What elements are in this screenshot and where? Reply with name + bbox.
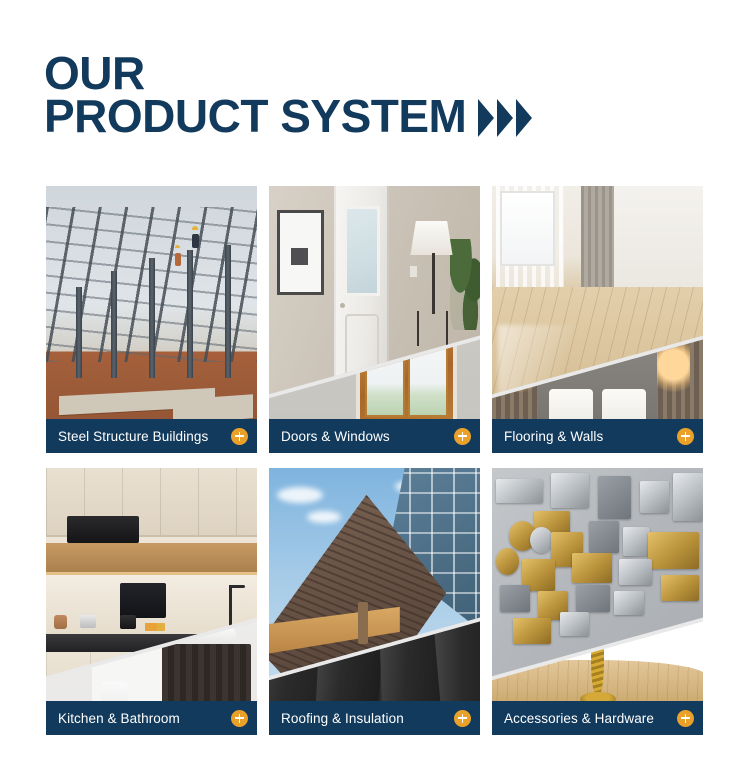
heading-line-two-row: PRODUCT SYSTEM <box>44 95 704 138</box>
heading-line-one: OUR <box>44 52 704 95</box>
card-image-roofing-insulation <box>269 468 480 735</box>
product-card-steel-structure-buildings[interactable]: Steel Structure Buildings <box>46 186 257 453</box>
chevron-right-icon-2 <box>497 99 513 137</box>
product-card-doors-and-windows[interactable]: Doors & Windows <box>269 186 480 453</box>
card-label-text: Steel Structure Buildings <box>58 429 231 444</box>
plus-icon[interactable] <box>454 428 471 445</box>
product-card-accessories-and-hardware[interactable]: Accessories & Hardware <box>492 468 703 735</box>
card-label-text: Kitchen & Bathroom <box>58 711 231 726</box>
page-title: OUR PRODUCT SYSTEM <box>44 52 704 138</box>
card-image-doors-windows <box>269 186 480 453</box>
card-label-text: Doors & Windows <box>281 429 454 444</box>
chevron-right-icon-1 <box>478 99 494 137</box>
card-label-bar[interactable]: Roofing & Insulation <box>269 701 480 735</box>
product-card-kitchen-and-bathroom[interactable]: Kitchen & Bathroom <box>46 468 257 735</box>
chevron-right-triple-icon <box>478 99 532 137</box>
plus-icon[interactable] <box>231 710 248 727</box>
heading-line-two: PRODUCT SYSTEM <box>44 95 466 138</box>
card-image-flooring-walls <box>492 186 703 453</box>
product-card-roofing-and-insulation[interactable]: Roofing & Insulation <box>269 468 480 735</box>
chevron-right-icon-3 <box>516 99 532 137</box>
card-label-text: Flooring & Walls <box>504 429 677 444</box>
card-label-bar[interactable]: Kitchen & Bathroom <box>46 701 257 735</box>
product-category-grid: Steel Structure Buildings <box>46 186 704 735</box>
plus-icon[interactable] <box>677 710 694 727</box>
card-label-text: Roofing & Insulation <box>281 711 454 726</box>
card-image-kitchen-bathroom <box>46 468 257 735</box>
product-system-section: OUR PRODUCT SYSTEM <box>0 0 750 773</box>
card-label-bar[interactable]: Accessories & Hardware <box>492 701 703 735</box>
steel-structure-photo <box>46 186 257 453</box>
plus-icon[interactable] <box>677 428 694 445</box>
card-image-accessories-hardware <box>492 468 703 735</box>
product-card-flooring-and-walls[interactable]: Flooring & Walls <box>492 186 703 453</box>
card-label-bar[interactable]: Flooring & Walls <box>492 419 703 453</box>
plus-icon[interactable] <box>454 710 471 727</box>
card-label-bar[interactable]: Steel Structure Buildings <box>46 419 257 453</box>
card-image-steel-structure <box>46 186 257 453</box>
card-label-text: Accessories & Hardware <box>504 711 677 726</box>
card-label-bar[interactable]: Doors & Windows <box>269 419 480 453</box>
plus-icon[interactable] <box>231 428 248 445</box>
